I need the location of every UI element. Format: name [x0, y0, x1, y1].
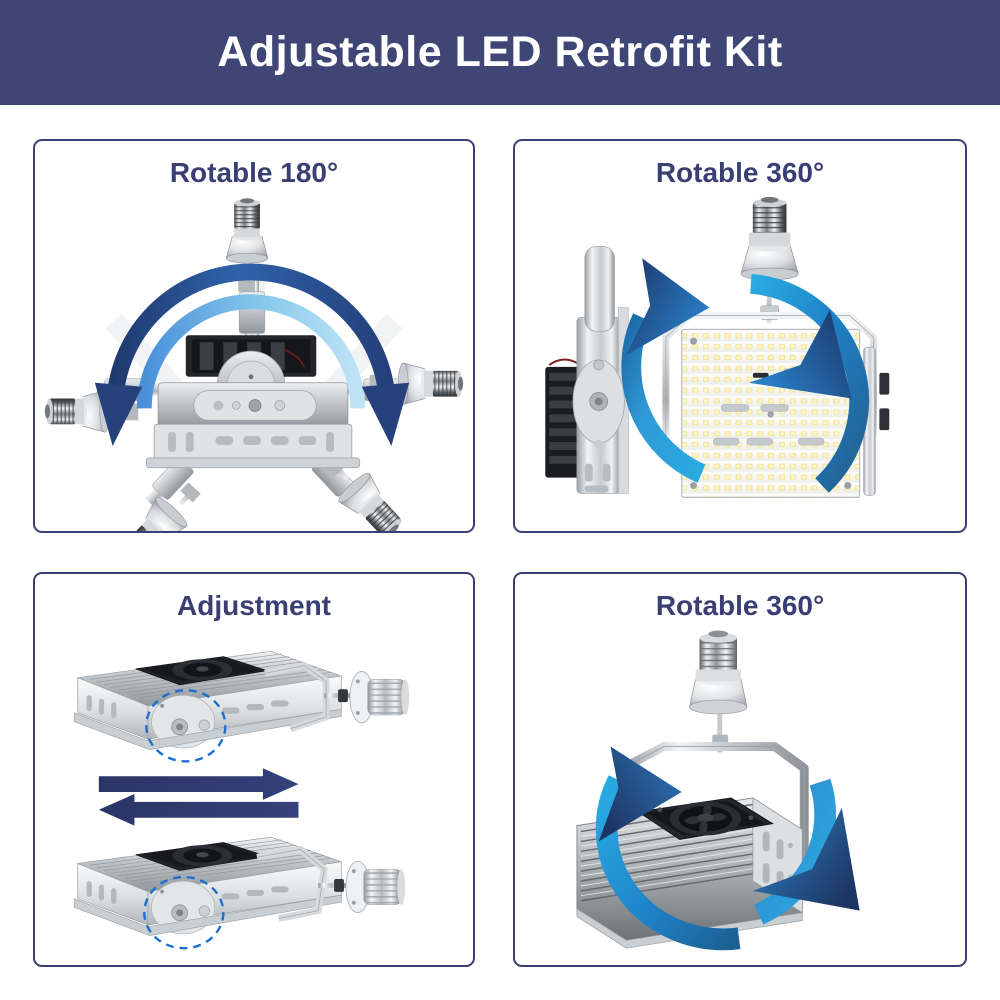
arrow-left — [99, 794, 299, 826]
panel-title-rotable-360-led: Rotable 360° — [515, 157, 965, 189]
arrow-right — [99, 768, 299, 800]
e26-socket-top — [741, 197, 798, 324]
feature-panel-grid: Rotable 180° — [33, 139, 967, 967]
adjustment-position-top — [74, 651, 409, 761]
e39-socket-top — [690, 631, 747, 753]
panel-title-rotable-180: Rotable 180° — [35, 157, 473, 189]
header-banner: Adjustable LED Retrofit Kit — [0, 0, 1000, 105]
arc-arrowhead-right — [362, 383, 409, 446]
panel-rotable-180: Rotable 180° — [33, 139, 475, 533]
driver-housing-left — [545, 246, 628, 493]
adjustment-position-bottom — [74, 837, 405, 948]
e26-socket-top-position — [350, 671, 409, 722]
panel-rotable-360-heatsink: Rotable 360° — [513, 572, 967, 967]
panel-adjustment: Adjustment — [33, 572, 475, 967]
panel-title-rotable-360-heatsink: Rotable 360° — [515, 590, 965, 622]
adjustment-direction-arrows — [99, 768, 299, 825]
page-title: Adjustable LED Retrofit Kit — [217, 28, 782, 77]
panel-title-adjustment: Adjustment — [35, 590, 473, 622]
panel-rotable-360-led: Rotable 360° — [513, 139, 967, 533]
retrofit-hub — [146, 335, 360, 467]
rotable-360-led-panel-diagram — [515, 189, 965, 531]
adjustment-two-positions-diagram — [35, 622, 473, 965]
product-infographic: Adjustable LED Retrofit Kit Rotable 180° — [0, 0, 1000, 1000]
rotable-180-diagram — [35, 189, 473, 531]
rotable-360-heatsink-diagram — [515, 622, 965, 965]
e26-socket-bottom-position — [346, 861, 405, 912]
